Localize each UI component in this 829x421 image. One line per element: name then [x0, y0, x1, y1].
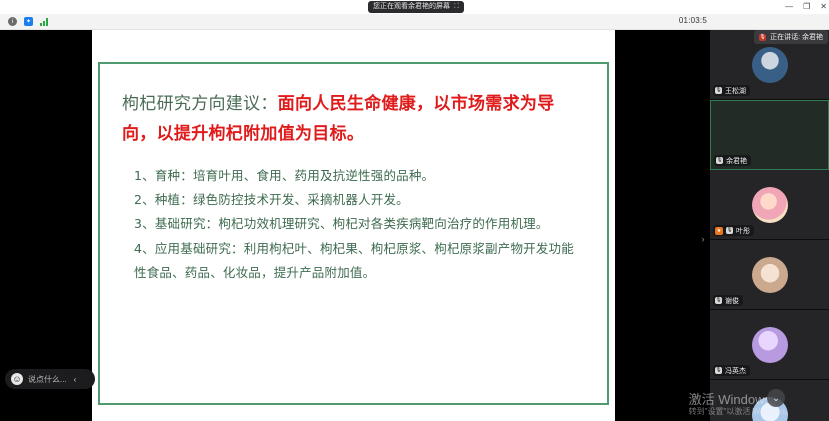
shield-icon[interactable]: ✦	[24, 17, 33, 26]
participant-tile[interactable]: ★ 🎙 叶彤	[710, 170, 829, 240]
slide-content-frame: 枸杞研究方向建议：面向人民生命健康，以市场需求为导向，以提升枸杞附加值为目标。 …	[98, 62, 609, 405]
chevron-down-icon[interactable]: ⌄	[767, 389, 785, 407]
avatar	[752, 327, 788, 363]
mic-icon: 🎙	[716, 157, 723, 164]
mic-icon: 🎙	[715, 87, 722, 94]
mic-icon: 🎙	[759, 34, 766, 41]
speaking-indicator: 🎙 正在讲话: 余君艳	[754, 30, 828, 44]
shared-screen-stage[interactable]: 枸杞研究方向建议：面向人民生命健康，以市场需求为导向，以提升枸杞附加值为目标。 …	[0, 30, 710, 421]
screen-share-icon: ⛶	[454, 1, 459, 13]
participant-nametag: ★ 🎙 叶彤	[713, 225, 754, 236]
smiley-icon[interactable]: ☺	[11, 373, 23, 385]
participant-tile[interactable]: 🎙 冯英杰	[710, 310, 829, 380]
participant-tile[interactable]: 🎙 谢俊	[710, 240, 829, 310]
participant-rail[interactable]: 🎙 正在讲话: 余君艳 🎙 王松湖 🎙 余君艳 ★ 🎙 叶彤	[710, 30, 829, 421]
participant-name: 余君艳	[726, 156, 747, 166]
participant-nametag: 🎙 余君艳	[714, 155, 751, 166]
participant-name: 叶彤	[736, 226, 750, 236]
participant-nametag: 🎙 谢俊	[713, 295, 743, 306]
screen-sharing-notice[interactable]: 您正在观看余君艳的屏幕 ⛶	[368, 1, 464, 13]
mic-icon: 🎙	[715, 367, 722, 374]
window-controls: — ❐ ✕	[785, 0, 827, 14]
speaking-indicator-label: 正在讲话: 余君艳	[770, 32, 823, 42]
mic-icon: 🎙	[726, 227, 733, 234]
close-button[interactable]: ✕	[820, 0, 827, 14]
avatar	[752, 257, 788, 293]
participant-name: 冯英杰	[725, 366, 746, 376]
participant-nametag: 🎙 王松湖	[713, 85, 750, 96]
slide-bullet: 3、基础研究：枸杞功效机理研究、枸杞对各类疾病靶向治疗的作用机理。	[134, 212, 585, 236]
meeting-timer: 01:03:5	[679, 16, 707, 25]
slide-bullet: 4、应用基础研究：利用枸杞叶、枸杞果、枸杞原浆、枸杞原浆副产物开发功能性食品、药…	[134, 237, 585, 286]
host-badge-icon: ★	[715, 227, 723, 235]
avatar	[752, 47, 788, 83]
avatar	[752, 187, 788, 223]
presentation-slide: 枸杞研究方向建议：面向人民生命健康，以市场需求为导向，以提升枸杞附加值为目标。 …	[92, 30, 615, 421]
slide-bullet-list: 1、育种：培育叶用、食用、药用及抗逆性强的品种。 2、种植：绿色防控技术开发、采…	[122, 164, 585, 286]
chevron-left-icon[interactable]: ‹	[74, 375, 77, 384]
chevron-right-icon[interactable]: ›	[698, 228, 708, 250]
sharing-notice-label: 您正在观看余君艳的屏幕	[373, 1, 450, 13]
signal-bars-icon[interactable]	[40, 17, 50, 26]
slide-bullet: 2、种植：绿色防控技术开发、采摘机器人开发。	[134, 188, 585, 212]
mic-icon: 🎙	[715, 297, 722, 304]
chat-input-bar[interactable]: ☺ 说点什么... ‹	[5, 369, 95, 389]
minimize-button[interactable]: —	[785, 0, 793, 14]
slide-bullet: 1、育种：培育叶用、食用、药用及抗逆性强的品种。	[134, 164, 585, 188]
info-icon[interactable]: i	[8, 17, 17, 26]
meeting-window: 您正在观看余君艳的屏幕 ⛶ — ❐ ✕ i ✦ 01:03:5 枸杞研究方向建议…	[0, 0, 829, 421]
participant-name: 王松湖	[725, 86, 746, 96]
chat-input-placeholder[interactable]: 说点什么...	[28, 374, 67, 385]
participant-nametag: 🎙 冯英杰	[713, 365, 750, 376]
participant-name: 谢俊	[725, 296, 739, 306]
slide-title-lead: 枸杞研究方向建议：	[122, 94, 278, 114]
participant-tile-active-speaker[interactable]: 🎙 余君艳	[710, 100, 829, 170]
title-bar: 您正在观看余君艳的屏幕 ⛶ — ❐ ✕	[0, 0, 829, 14]
maximize-button[interactable]: ❐	[803, 0, 810, 14]
slide-title: 枸杞研究方向建议：面向人民生命健康，以市场需求为导向，以提升枸杞附加值为目标。	[122, 90, 585, 150]
